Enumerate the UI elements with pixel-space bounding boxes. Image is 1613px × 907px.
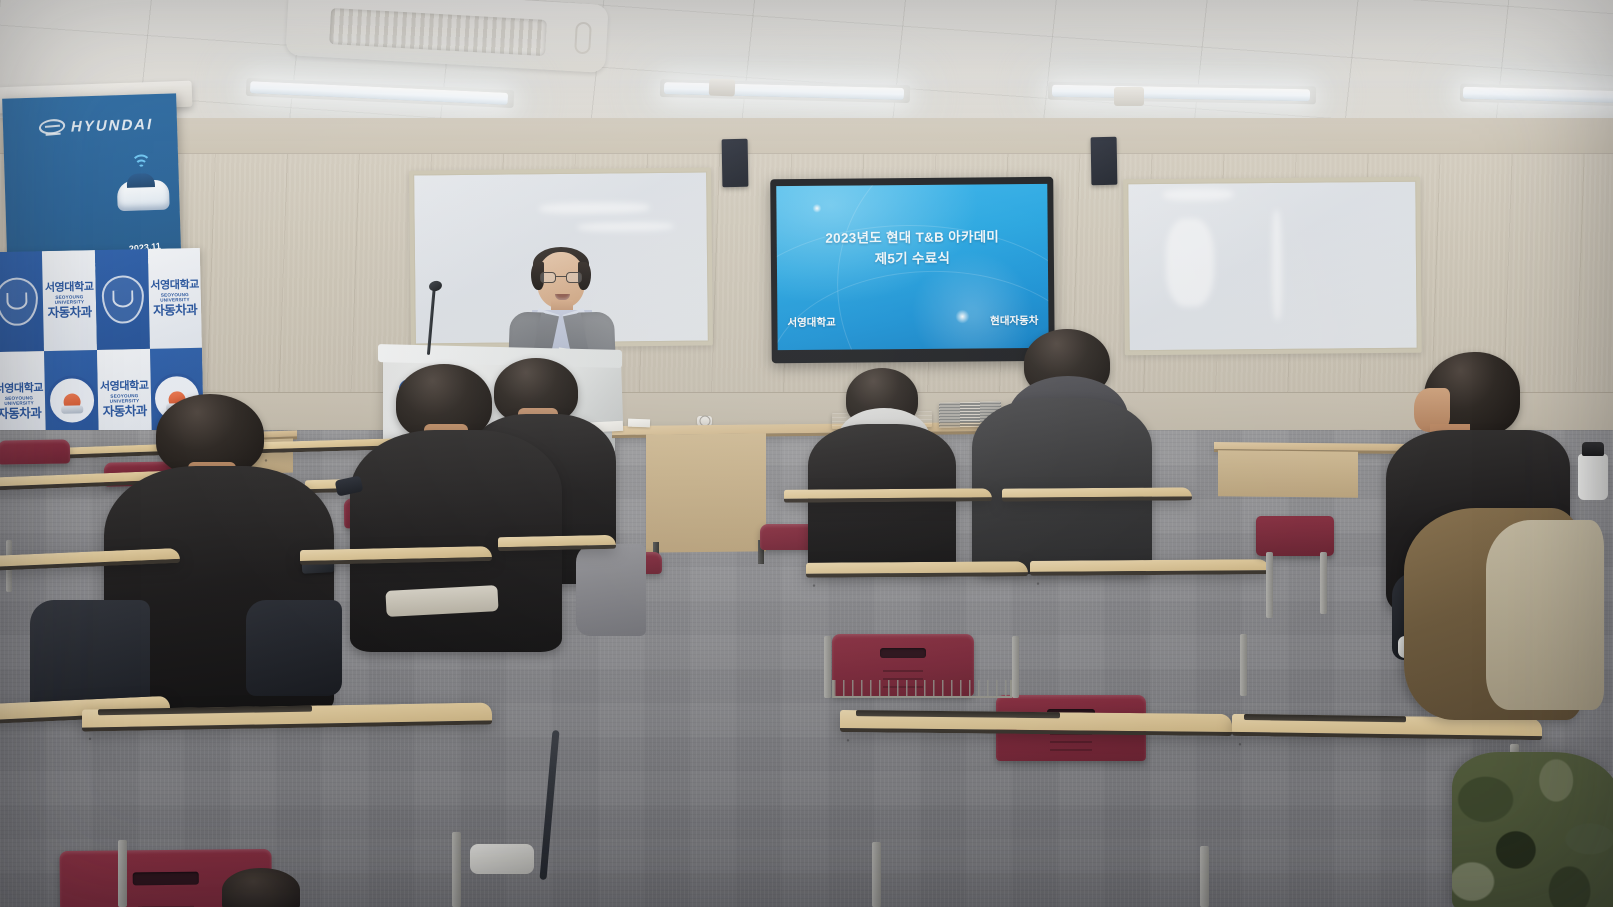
- student-leg: [576, 544, 646, 636]
- chair-seat[interactable]: [1256, 516, 1334, 556]
- backdrop-text: 서영대학교 SEOYOUNG UNIVERSITY 자동차과: [98, 380, 152, 420]
- desk: [0, 552, 180, 567]
- hyundai-wordmark: HYUNDAI: [70, 116, 155, 136]
- backdrop-university-en: SEOYOUNG UNIVERSITY: [0, 395, 45, 406]
- backdrop-university-ko: 서영대학교: [98, 380, 151, 393]
- student-head-foreground: [222, 868, 300, 907]
- presentation-display[interactable]: 2023년도 현대 T&B 아카데미 제5기 수료식 서영대학교 현대자동차: [770, 177, 1055, 363]
- slide-footer-right: 현대자동차: [990, 313, 1038, 328]
- desk: [1002, 488, 1192, 501]
- whiteboard-glare: [1272, 210, 1283, 320]
- slide-title-block: 2023년도 현대 T&B 아카데미 제5기 수료식: [777, 226, 1048, 270]
- backdrop-university-ko: 서영대학교: [149, 279, 201, 292]
- floor-adapter: [470, 844, 534, 874]
- chair-leg: [1320, 552, 1327, 614]
- whiteboard-surface: [1127, 181, 1417, 352]
- slide-sparkle-icon: [812, 204, 821, 213]
- whiteboard-smudge: [1166, 219, 1215, 307]
- side-table-skirt: [1218, 450, 1358, 497]
- wifi-icon: [130, 154, 153, 175]
- backdrop-text: 서영대학교 SEOYOUNG UNIVERSITY 자동차과: [149, 279, 202, 319]
- whiteboard-smudge: [578, 222, 674, 232]
- desk-modesty-panel: [840, 732, 1170, 907]
- slide-title-line2: 제5기 수료식: [777, 247, 1048, 270]
- university-mascot-icon: [46, 375, 97, 426]
- desk-leg: [1012, 636, 1019, 698]
- backdrop-text: 서영대학교 SEOYOUNG UNIVERSITY 자동차과: [43, 281, 97, 321]
- chair-backrest[interactable]: [0, 439, 70, 464]
- chair-leg: [1266, 552, 1273, 618]
- whiteboard-smudge: [1163, 188, 1233, 201]
- wall-upper-band: [0, 118, 1613, 154]
- desk-surface: [806, 561, 1028, 578]
- desk-foreground: [840, 712, 1232, 907]
- camouflage-uniform: [1452, 752, 1613, 907]
- desk-surface: [300, 546, 492, 565]
- backdrop-text: 서영대학교 SEOYOUNG UNIVERSITY 자동차과: [0, 382, 45, 422]
- university-crest-icon: [0, 277, 38, 326]
- eyeglasses-icon: [540, 272, 582, 283]
- desk-leg: [452, 832, 461, 907]
- backdrop-department: 자동차과: [43, 305, 96, 320]
- backdrop-tile: 서영대학교 SEOYOUNG UNIVERSITY 자동차과: [42, 250, 97, 351]
- backdrop-department: 자동차과: [0, 406, 45, 421]
- backdrop-department: 자동차과: [149, 303, 201, 318]
- backdrop-tile: [0, 251, 44, 352]
- desk: [498, 536, 616, 550]
- hyundai-logo-icon: [37, 119, 66, 135]
- slide-footer: 서영대학교 현대자동차: [787, 313, 1038, 330]
- desk-leg: [1240, 634, 1247, 696]
- slide-title-line1: 2023년도 현대 T&B 아카데미: [777, 226, 1048, 249]
- jacket-on-chair[interactable]: [246, 600, 342, 696]
- desk-modesty-panel: [1030, 574, 1226, 653]
- backdrop-tile: [95, 249, 150, 350]
- slide-surface: 2023년도 현대 T&B 아카데미 제5기 수료식 서영대학교 현대자동차: [776, 184, 1048, 350]
- desk: [1030, 560, 1270, 653]
- desk-leg: [1200, 846, 1209, 907]
- desk-storage-basket: [832, 680, 1012, 698]
- desk: [806, 562, 1028, 653]
- desk-leg: [872, 842, 881, 907]
- front-table-skirt: [646, 433, 766, 552]
- desk-modesty-panel: [806, 576, 988, 653]
- coat-lining: [1486, 520, 1604, 710]
- backdrop-university-ko: 서영대학교: [43, 281, 96, 294]
- bottle-cap[interactable]: [1582, 442, 1604, 456]
- desk-leg: [118, 840, 127, 907]
- whiteboard-smudge: [539, 202, 649, 214]
- ceiling-sensor-icon: [709, 79, 736, 97]
- desk: [300, 548, 492, 563]
- desk-surface: [1030, 559, 1270, 576]
- backdrop-university-en: SEOYOUNG UNIVERSITY: [98, 393, 151, 404]
- backdrop-university-en: SEOYOUNG UNIVERSITY: [149, 292, 201, 303]
- projector-mount-icon: [1114, 87, 1144, 106]
- desk-pen-tray: [1244, 714, 1405, 722]
- backdrop-university-ko: 서영대학교: [0, 382, 45, 395]
- desk-surface: [784, 488, 992, 502]
- desk-surface: [498, 535, 616, 551]
- desk-surface: [1002, 487, 1192, 501]
- water-bottle[interactable]: [1578, 454, 1608, 500]
- car-illustration: [117, 180, 170, 212]
- student-torso: [972, 398, 1152, 574]
- document-on-table[interactable]: [628, 419, 650, 428]
- desk-pen-tray: [98, 706, 311, 716]
- wall-speaker-left: [722, 139, 749, 187]
- backdrop-tile: 서영대학교 SEOYOUNG UNIVERSITY 자동차과: [148, 248, 202, 349]
- whiteboard-right: [1123, 177, 1422, 356]
- classroom-photo: 2023년도 현대 T&B 아카데미 제5기 수료식 서영대학교 현대자동차 H…: [0, 0, 1613, 907]
- desk: [784, 489, 992, 502]
- wall-speaker-right: [1091, 137, 1118, 185]
- backdrop-university-en: SEOYOUNG UNIVERSITY: [43, 294, 96, 305]
- backdrop-department: 자동차과: [98, 404, 151, 419]
- slide-footer-left: 서영대학교: [787, 315, 835, 330]
- ac-side-vent: [574, 22, 592, 55]
- desk-leg: [824, 636, 831, 698]
- university-crest-icon: [101, 275, 144, 324]
- desk-pen-tray: [856, 710, 1060, 718]
